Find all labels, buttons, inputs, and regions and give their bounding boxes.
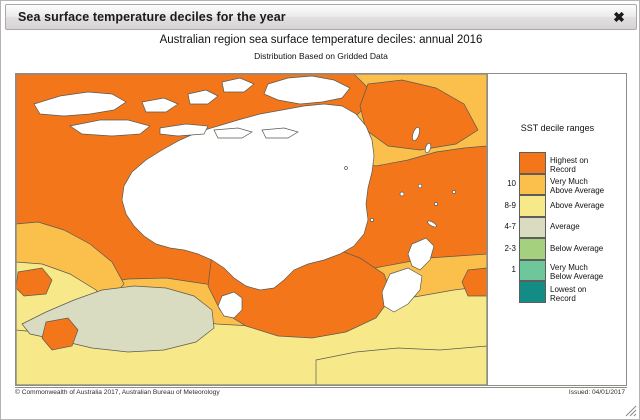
page-title: Australian region sea surface temperatur…	[1, 34, 640, 46]
legend-decile-1: 1	[488, 265, 516, 274]
legend-swatch-above-average[interactable]	[519, 195, 546, 217]
page-subtitle: Distribution Based on Gridded Data	[1, 51, 640, 61]
legend-label-highest-on-record: Highest on Record	[550, 156, 622, 174]
legend-label-average: Average	[550, 222, 622, 231]
legend-swatch-highest-on-record[interactable]	[519, 152, 546, 174]
legend-label-very-much-below-average: Very Much Below Average	[550, 263, 622, 281]
legend-decile-10: 10	[488, 179, 516, 188]
legend-label-lowest-on-record: Lowest on Record	[550, 285, 622, 303]
map-svg	[16, 74, 487, 385]
legend-label-above-average: Above Average	[550, 201, 622, 210]
figure-window: Sea surface temperature deciles for the …	[0, 0, 640, 420]
legend-swatch-very-much-below-average[interactable]	[519, 260, 546, 282]
window-title: Sea surface temperature deciles for the …	[18, 10, 286, 24]
issued-date: Issued: 04/01/2017	[569, 389, 625, 396]
legend-label-very-much-above-average: Very Much Above Average	[550, 177, 622, 195]
legend-label-below-average: Below Average	[550, 244, 622, 253]
legend-title: SST decile ranges	[488, 123, 627, 133]
legend-decile-2-3: 2-3	[488, 244, 516, 253]
footer-divider	[15, 387, 627, 388]
legend-decile-4-7: 4-7	[488, 222, 516, 231]
close-icon[interactable]: ✖	[611, 9, 627, 25]
window-titlebar[interactable]: Sea surface temperature deciles for the …	[5, 4, 637, 30]
legend-swatch-below-average[interactable]	[519, 238, 546, 260]
legend-panel: SST decile ranges Highest on Record 10 V…	[488, 73, 627, 386]
resize-grip-icon[interactable]	[623, 403, 637, 417]
legend-swatch-lowest-on-record[interactable]	[519, 281, 546, 303]
legend-decile-8-9: 8-9	[488, 201, 516, 210]
copyright-text: © Commonwealth of Australia 2017, Austra…	[15, 389, 220, 396]
sst-decile-map[interactable]	[15, 73, 488, 386]
legend-swatch-average[interactable]	[519, 217, 546, 239]
legend-swatch-very-much-above-average[interactable]	[519, 174, 546, 196]
